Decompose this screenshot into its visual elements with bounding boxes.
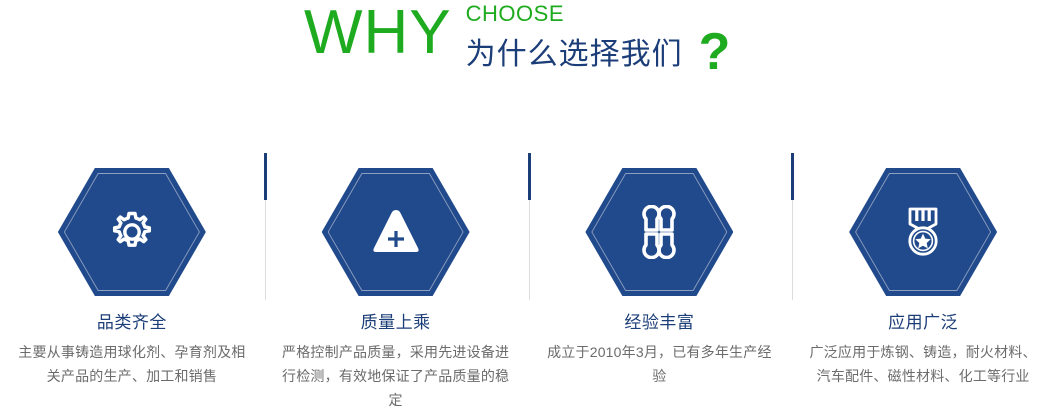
feature-title: 品类齐全: [97, 312, 167, 334]
feature-title: 质量上乘: [361, 312, 431, 334]
four-petal-clover-icon: [585, 168, 733, 296]
feature-column-2: 质量上乘 严格控制产品质量，采用先进设备进行检测，有效地保证了产品质量的稳定: [264, 140, 528, 416]
heading-chinese: 为什么选择我们: [466, 37, 683, 73]
medal-icon: [849, 168, 997, 296]
question-mark-glyph: ?: [699, 34, 731, 70]
heading-subgroup: CHOOSE 为什么选择我们 ?: [466, 2, 731, 73]
gear-icon: [58, 168, 206, 296]
feature-columns: 品类齐全 主要从事铸造用球化剂、孕育剂及相关产品的生产、加工和销售 质量上乘 严…: [0, 140, 1055, 416]
divider-grey-segment: [529, 200, 530, 300]
column-divider: [528, 153, 531, 313]
feature-description: 主要从事铸造用球化剂、孕育剂及相关产品的生产、加工和销售: [18, 340, 246, 388]
feature-description: 成立于2010年3月，已有多年生产经验: [545, 340, 773, 388]
hexagon-badge-2: [322, 168, 470, 296]
heading-why: WHY: [304, 2, 452, 64]
feature-description: 广泛应用于炼钢、铸造，耐火材料、汽车配件、磁性材料、化工等行业: [809, 340, 1037, 388]
hexagon-badge-1: [58, 168, 206, 296]
column-divider: [264, 153, 267, 313]
triangle-plus-icon: [322, 168, 470, 296]
section-header: WHY CHOOSE 为什么选择我们 ?: [0, 0, 1055, 95]
divider-blue-segment: [791, 153, 794, 200]
hexagon-badge-3: [585, 168, 733, 296]
column-divider: [791, 153, 794, 313]
divider-blue-segment: [264, 153, 267, 200]
header-title-group: WHY CHOOSE 为什么选择我们 ?: [304, 0, 730, 73]
divider-grey-segment: [792, 200, 793, 300]
feature-title: 应用广泛: [888, 312, 958, 334]
heading-chinese-row: 为什么选择我们 ?: [466, 29, 731, 73]
feature-column-1: 品类齐全 主要从事铸造用球化剂、孕育剂及相关产品的生产、加工和销售: [0, 140, 264, 416]
feature-description: 严格控制产品质量，采用先进设备进行检测，有效地保证了产品质量的稳定: [282, 340, 510, 412]
feature-column-4: 应用广泛 广泛应用于炼钢、铸造，耐火材料、汽车配件、磁性材料、化工等行业: [791, 140, 1055, 416]
hexagon-badge-4: [849, 168, 997, 296]
feature-column-3: 经验丰富 成立于2010年3月，已有多年生产经验: [528, 140, 792, 416]
divider-grey-segment: [265, 200, 266, 300]
divider-blue-segment: [528, 153, 531, 200]
heading-choose: CHOOSE: [466, 2, 731, 26]
feature-title: 经验丰富: [624, 312, 694, 334]
